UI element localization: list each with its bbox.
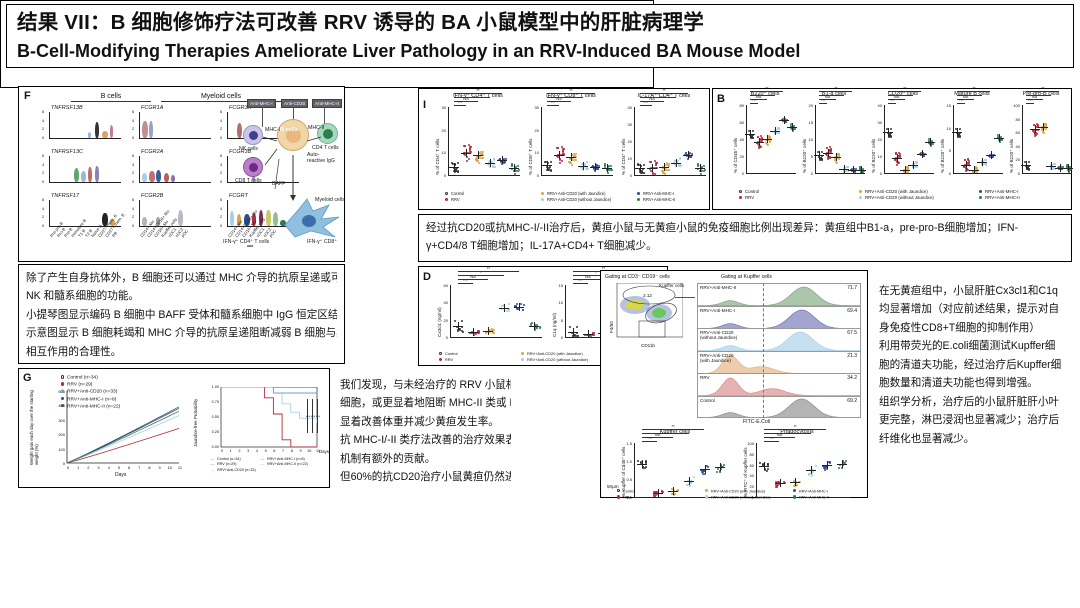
panel-b-chart-4-error-bar — [1051, 162, 1052, 170]
panel-b-chart-1-data-point — [820, 157, 822, 159]
panel-i-chart-1-data-point — [610, 169, 612, 171]
legend-dot — [617, 495, 620, 498]
panel-b-chart-1-sig-mark: ** — [828, 86, 844, 91]
panel-i-chart-2-data-point — [654, 160, 656, 162]
panel-i-legend-item: Control — [443, 191, 464, 196]
panel-b-legend-label: RRV+Anti-CD20 (with Jaundice) — [865, 189, 928, 194]
panel-b-chart-1-data-point — [838, 158, 840, 160]
legend-dot — [793, 495, 796, 498]
gating-cd3-title: Gating at CD3⁻ CD19⁻ cells — [605, 274, 670, 280]
panel-i-chart-2-data-point — [641, 172, 643, 174]
text-f-line-1: 除了产生自身抗体外，B 细胞还可以通过 MHC 介导的抗原呈递或可溶性介质来改变… — [26, 270, 337, 287]
panel-i-legend-label: RRV+Anti-CD20 (without Jaundice) — [547, 197, 611, 202]
panel-g-label: G — [23, 372, 32, 384]
panel-i-legend-item: RRV+Anti-CD20 (with Jaundice) — [539, 191, 606, 196]
panel-d-legend-swatch — [437, 357, 444, 362]
growth-y-tick: 200 — [51, 432, 65, 437]
panel-i-legend-swatch — [635, 197, 642, 202]
panel-d-chart-0-y-tick: 60 — [439, 283, 448, 288]
panel-d-chart-0-error-bar — [534, 322, 535, 330]
histogram-row-value: 21.3 — [847, 353, 857, 359]
histogram-row: RRV+Anti-CD20 (without Jaundice)67.5 — [697, 328, 861, 351]
violin-category-label: PB — [111, 231, 118, 238]
panel-i-chart-1-error-bar — [583, 162, 584, 170]
flow-legend-swatch — [791, 495, 798, 499]
panel-d-chart-0-error-bar — [504, 304, 505, 312]
violin-y-tick: 2 — [42, 214, 44, 219]
panel-d-chart-0-data-point — [522, 309, 524, 311]
legend-dot — [521, 352, 524, 355]
panel-d-legend-swatch — [437, 351, 444, 356]
flow-legend-item: RRV+Anti-CD20 (with Jaundice) — [703, 489, 765, 493]
violin-y-tick: 0 — [220, 223, 222, 228]
violin-y-tick: 2 — [132, 126, 134, 131]
flow-chart-1-data-point — [838, 467, 840, 469]
violin-shape — [164, 173, 169, 182]
survival-legend-swatch: — — [209, 457, 216, 461]
survival-x-tick: 2 — [236, 449, 242, 453]
panel-b-chart-0-data-point — [794, 128, 796, 130]
growth-x-tick: 10 — [167, 465, 173, 470]
violin-y-axis — [139, 112, 140, 138]
violin-y-tick: 4 — [42, 206, 44, 211]
panel-b-chart-0-data-point — [769, 140, 771, 142]
flow-chart-1-sig-bar — [764, 437, 795, 438]
flow-chart-1-data-point — [766, 470, 768, 472]
flow-chart-0-y-tick: 1.0 — [623, 459, 632, 464]
panel-d-chart-1-sig-bar — [573, 283, 588, 284]
panel-d-chart-0-y-axis — [450, 285, 451, 337]
panel-i-chart-0-data-point — [493, 158, 495, 160]
survival-legend-item: —RRV (n=29) — [209, 462, 237, 466]
flow-legend-swatch — [703, 495, 710, 499]
panel-b-legend-swatch — [857, 189, 864, 194]
panel-d-chart-1-y-axis — [565, 285, 566, 337]
panel-i-chart-1-error-bar — [571, 153, 572, 161]
flow-legend-label: RRV+Anti-MHC-II — [799, 496, 829, 500]
panel-b-chart-3-data-point — [958, 133, 960, 135]
violin-y-tick: 4 — [42, 162, 44, 167]
panel-b-chart-4-data-point — [1053, 163, 1055, 165]
panel-b-chart-2-error-bar — [888, 128, 889, 136]
panel-i-chart-0-y-axis — [448, 107, 449, 175]
histogram-row: RRV+Anti-MHC-I69.4 — [697, 306, 861, 329]
panel-b-chart-3-y-tick: 0 — [942, 171, 951, 176]
panel-f-label: F — [24, 90, 31, 102]
text-right-line-4: 利用带荧光的E.coli细菌测试Kupffer细 — [879, 338, 1065, 355]
histogram-row-label: RRV+Anti-CD20 (without Jaundice) — [700, 330, 737, 341]
panel-b-chart-4-y-tick: 40 — [1011, 144, 1020, 149]
violin-y-tick: 4 — [42, 118, 44, 123]
panel-b-legend-label: Control — [745, 189, 759, 194]
panel-d-chart-1-data-point — [576, 326, 578, 328]
panel-b-chart-4-y-tick: 60 — [1011, 130, 1020, 135]
violin-y-tick: 2 — [132, 214, 134, 219]
panel-b-chart-4-y-tick: 80 — [1011, 117, 1020, 122]
panel-i-legend-swatch — [443, 197, 450, 202]
growth-y-tick: 400 — [51, 403, 65, 408]
growth-x-tick: 5 — [116, 465, 122, 470]
growth-x-tick: 11 — [177, 465, 183, 470]
panel-b-chart-0-sig-bar — [750, 95, 775, 96]
violin-y-tick: 4 — [132, 206, 134, 211]
panel-i-chart-1-data-point — [548, 169, 550, 171]
panel-d-chart-0-data-point — [461, 320, 463, 322]
text-g-line-3: 显着改善体重并减少黄疸发生率。 — [340, 414, 511, 431]
panel-b-legend-swatch — [977, 195, 984, 200]
survival-x-tick: 8 — [289, 449, 295, 453]
panel-i-chart-1-error-bar — [547, 161, 548, 169]
panel-b-chart-2-data-point — [889, 133, 891, 135]
histogram-row-label: RRV — [700, 375, 710, 380]
panel-i-chart-2-data-point — [643, 164, 645, 166]
violin-shape — [171, 175, 175, 182]
survival-legend-label: RRV (n=29) — [217, 462, 237, 466]
panel-g-figure: G Control (n=34)RRV (n=29)RRV+Anti-CD20 … — [18, 368, 330, 488]
panel-f-figure: F B cells Myeloid cells TNFRSF13B6420TNF… — [18, 86, 345, 262]
legend-dot — [739, 196, 742, 199]
panel-d-chart-0-error-bar — [488, 327, 489, 335]
panel-b-chart-4-sig-bar — [1026, 95, 1051, 96]
panel-d-chart-0-data-point — [508, 303, 510, 305]
survival-x-tick: 9 — [298, 449, 304, 453]
panel-f-description: 除了产生自身抗体外，B 细胞还可以通过 MHC 介导的抗原呈递或可溶性介质来改变… — [18, 264, 345, 364]
panel-b-chart-1-error-bar — [819, 151, 820, 159]
histogram-row-value: 69.2 — [847, 398, 857, 404]
panel-b-chart-1-sig-bar — [819, 103, 827, 104]
text-ib-line-1: 经过抗CD20或抗MHC-I/-II治疗后，黄疸小鼠与无黄疸小鼠的免疫细胞比例出… — [426, 220, 1064, 237]
survival-legend-item: —RRV+Anti-MHC-I (n=8) — [259, 457, 305, 461]
flow-chart-0-error-bar — [720, 463, 721, 471]
panel-b-chart-1-y-tick: 20 — [804, 103, 813, 108]
panel-b-chart-2-error-bar — [922, 150, 923, 158]
panel-i-legend-item: RRV+Anti-MHC-II — [635, 197, 675, 202]
panel-b-chart-3-sig-bar — [957, 103, 965, 104]
panel-i-chart-2-y-tick: 30 — [623, 122, 632, 127]
panel-b-chart-2-sig-mark: ** — [897, 86, 913, 91]
panel-d-legend-item: Control — [437, 351, 458, 356]
survival-curve-svg — [207, 387, 321, 467]
flow-chart-1-error-bar — [827, 461, 828, 469]
flow-chart-0-error-bar — [658, 489, 659, 497]
panel-i-legend-swatch — [443, 191, 450, 196]
violin-y-tick: 6 — [132, 153, 134, 158]
text-f-line-3: 小提琴图显示编码 B 细胞中 BAFF 受体和髓系细胞中 IgG 恒定区结合受体… — [26, 307, 337, 324]
panel-b-legend-label: RRV+Anti-CD20 (without Jaundice) — [865, 195, 934, 200]
flow-chart-1-error-bar — [764, 462, 765, 470]
legend-dot — [859, 196, 862, 199]
panel-b-chart-1-y-tick: 10 — [804, 137, 813, 142]
panel-b-chart-4: Pre-pro-B cells% of B220⁺ cells100806040… — [1007, 91, 1075, 183]
legend-dot — [979, 190, 982, 193]
flow-chart-1-data-point — [815, 465, 817, 467]
panel-d-chart-0-data-point — [520, 303, 522, 305]
panel-b-legend-item: RRV+Anti-MHC-I — [977, 189, 1018, 194]
panel-i-chart-2-y-tick: 40 — [623, 105, 632, 110]
panel-i-chart-2-error-bar — [652, 164, 653, 172]
flow-chart-1-data-point — [775, 486, 777, 488]
survival-x-tick: 6 — [271, 449, 277, 453]
panel-g-legend-label: RRV (n=29) — [67, 383, 92, 388]
panel-b-chart-4-error-bar — [1068, 164, 1069, 172]
panel-i-figure: I IFN-γ⁺ CD4⁺ T cells% of CD4⁺ T cells30… — [418, 88, 710, 210]
panel-b-legend-label: RRV — [745, 195, 754, 200]
legend-dot — [979, 196, 982, 199]
text-f-line-4: 示意图显示 B 细胞耗竭和 MHC 介导的抗原呈递阻断减弱 B 细胞与其他细胞簇… — [26, 325, 337, 342]
panel-b-chart-3-x-axis — [953, 173, 1003, 174]
violin-x-axis — [139, 138, 211, 139]
violin-y-axis — [49, 156, 50, 182]
gene-label-tnfrsf17: TNFRSF17 — [51, 193, 79, 199]
panel-b-chart-2-y-tick: 10 — [873, 154, 882, 159]
survival-y-tick: 0.75 — [199, 400, 219, 404]
panel-i-chart-1-sig-bar — [547, 101, 571, 102]
flow-legend-label: RRV+Anti-MHC-I — [799, 489, 828, 493]
flow-chart-0-sig-mark: ** — [665, 424, 681, 429]
gene-label-fcgr2a: FCGR2A — [141, 149, 163, 155]
flow-chart-0-data-point — [707, 466, 709, 468]
panel-b-chart-2-sig-bar — [888, 95, 913, 96]
panel-b-chart-0-error-bar — [784, 116, 785, 124]
survival-y-axis-label: Jaundice-free Probability — [193, 399, 198, 447]
violin-y-tick: 0 — [42, 135, 44, 140]
panel-i-chart-2-sig-bar — [640, 93, 688, 94]
violin-y-axis — [227, 156, 228, 182]
histogram-row: RRV34.2 — [697, 373, 861, 396]
panel-b-legend-swatch — [857, 195, 864, 200]
flow-chart-1-data-point — [829, 461, 831, 463]
panel-b-chart-2-y-tick: 30 — [873, 120, 882, 125]
flow-chart-0-data-point — [716, 471, 718, 473]
flow-chart-0-data-point — [702, 473, 704, 475]
violin-y-tick: 0 — [132, 179, 134, 184]
panel-i-chart-2-data-point — [668, 169, 670, 171]
panel-i-chart-2-error-bar — [700, 164, 701, 172]
panel-i-chart-0-data-point — [468, 158, 470, 160]
panel-ib-description: 经过抗CD20或抗MHC-I/-II治疗后，黄疸小鼠与无黄疸小鼠的免疫细胞比例出… — [418, 214, 1072, 262]
growth-curve-svg — [53, 391, 183, 485]
panel-d-chart-1-y-tick: 0 — [554, 335, 563, 340]
growth-y-tick: 500 — [51, 389, 65, 394]
panel-b-chart-3-data-point — [967, 158, 969, 160]
survival-legend-label: RRV+Anti-MHC-I (n=8) — [267, 457, 305, 461]
panel-b-chart-1-x-axis — [815, 173, 865, 174]
panel-i-chart-0-data-point — [514, 173, 516, 175]
violin-y-tick: 4 — [132, 118, 134, 123]
survival-series-2 — [221, 387, 317, 423]
flow-legend-item: RRV+Anti-CD20 (without Jaundice) — [703, 495, 771, 499]
panel-i-chart-2-error-bar — [676, 159, 677, 167]
survival-series-1 — [221, 387, 317, 447]
panel-i-chart-2-x-axis — [634, 175, 706, 176]
panel-b-chart-0-sig-bar — [750, 99, 767, 100]
panel-i-legend-swatch — [539, 191, 546, 196]
panel-b-chart-0-sig-bar — [750, 91, 783, 92]
panel-i-chart-2-data-point — [650, 161, 652, 163]
slide-title-block: 结果 VII：B 细胞修饰疗法可改善 RRV 诱导的 BA 小鼠模型中的肝脏病理… — [6, 4, 1074, 68]
panel-b-chart-4-sig-bar — [1026, 103, 1034, 104]
violin-y-tick: 6 — [132, 197, 134, 202]
panel-right-description: 在无黄疸组中，小鼠肝脏Cx3cl1和C1q 均显著增加（对应前述结果，提示对自 … — [872, 278, 1072, 498]
growth-x-tick: 0 — [65, 465, 71, 470]
panel-b-chart-1-data-point — [828, 157, 830, 159]
violin-y-tick: 0 — [132, 135, 134, 140]
panel-b-chart-2-error-bar — [897, 154, 898, 162]
legend-dot — [637, 198, 640, 201]
panel-d-legend-swatch — [519, 351, 526, 356]
violin-shape — [95, 122, 99, 138]
survival-x-tick: 7 — [280, 449, 286, 453]
flow-chart-0-data-point — [704, 473, 706, 475]
panel-b-chart-0-error-bar — [767, 135, 768, 143]
panel-d-legend-label: RRV+Anti-CD20 (without Jaundice) — [527, 357, 588, 362]
panel-b-legend-item: RRV+Anti-CD20 (without Jaundice) — [857, 195, 934, 200]
growth-y-tick: 300 — [51, 418, 65, 423]
survival-x-tick: 0 — [219, 449, 225, 453]
panel-i-chart-0-y-tick: 0 — [437, 173, 446, 178]
hist-x-axis-label: FITC-E.Coli — [743, 419, 770, 425]
survival-sig-mark: *** — [315, 415, 321, 419]
panel-d-chart-1-sig-bar — [573, 279, 604, 280]
panel-d-chart-0-data-point — [475, 333, 477, 335]
text-right-line-5: 胞的清道夫功能，经过治疗后Kupffer细 — [879, 357, 1065, 374]
gating-kupffer-title: Gating at Kupffer cells — [721, 274, 772, 280]
panel-d-chart-0-data-point — [508, 310, 510, 312]
panel-i-chart-1-data-point — [607, 172, 609, 174]
panel-i-chart-2-sig-bar — [640, 101, 664, 102]
flow-chart-1-error-bar — [842, 460, 843, 468]
panel-i-chart-1-error-bar — [607, 164, 608, 172]
panel-b-chart-4-data-point — [1028, 161, 1030, 163]
panel-i-chart-2-data-point — [655, 164, 657, 166]
panel-g-legend-item: Control (n=34) — [59, 375, 98, 381]
panel-i-chart-2-y-tick: 0 — [623, 173, 632, 178]
panel-b-legend-item: RRV+Anti-MHC-II — [977, 195, 1020, 200]
panel-i-chart-0-data-point — [464, 145, 466, 147]
panel-b-chart-2-error-bar — [930, 138, 931, 146]
legend-dot — [541, 198, 544, 201]
drug-tag-anti-mhc-ii: Anti-MHC-II — [312, 99, 342, 108]
violin-y-tick: 0 — [220, 135, 222, 140]
flow-chart-1-error-bar — [795, 478, 796, 486]
panel-d-chart-0: Cx3cl1 (ng/ml)6040200***NS*** — [435, 271, 545, 347]
growth-x-tick: 4 — [106, 465, 112, 470]
panel-b-chart-3-error-bar — [982, 158, 983, 166]
panel-i-chart-2-data-point — [703, 170, 705, 172]
panel-i-legend-item: RRV+Anti-MHC-I — [635, 191, 674, 196]
histogram-row-label: RRV+Anti-MHC-I — [700, 308, 735, 313]
panel-i-chart-1-data-point — [586, 161, 588, 163]
panel-b-chart-4-sig-mark: ** — [1035, 86, 1051, 91]
panel-d-chart-1-error-bar — [573, 328, 574, 336]
panel-b-chart-0-data-point — [759, 146, 761, 148]
violin-shape — [149, 171, 154, 182]
legend-dot — [521, 358, 524, 361]
text-g-line-6: 但60%的抗CD20治疗小鼠黄疸仍然进展 — [340, 469, 511, 486]
panel-b-chart-1-data-point — [835, 161, 837, 163]
panel-i-chart-0-sig-bar — [454, 105, 466, 106]
panel-i-chart-0-sig-bar — [454, 97, 490, 98]
panel-i-chart-1-x-axis — [541, 175, 613, 176]
panel-i-chart-2-error-bar — [688, 151, 689, 159]
panel-b-chart-4-y-tick: 100 — [1011, 103, 1020, 108]
panel-b-chart-3-error-bar — [974, 166, 975, 174]
panel-d-chart-1-y-tick: 10 — [554, 300, 563, 305]
survival-legend-label: Control (n=34) — [217, 457, 241, 461]
violin-shape — [95, 166, 99, 182]
text-right-line-9: 纤维化也显著减少。 — [879, 431, 1065, 448]
panel-i-chart-2: IL-17A⁺ CD4⁺ T cells% of CD4⁺ T cells403… — [619, 93, 709, 185]
text-right-line-8: 更完整，淋巴浸润也显著减少；治疗后 — [879, 412, 1065, 429]
panel-d-chart-1-error-bar — [588, 330, 589, 338]
violin-y-tick: 2 — [220, 126, 222, 131]
histogram-curve — [698, 396, 860, 418]
legend-dot — [445, 198, 448, 201]
panel-g-legend-swatch — [59, 382, 66, 388]
violin-shape — [88, 167, 92, 182]
panel-b-chart-1-y-tick: 0 — [804, 171, 813, 176]
text-right-line-3: 身免疫性CD8+T细胞的抑制作用） — [879, 320, 1065, 337]
panel-b-chart-2-y-tick: 40 — [873, 103, 882, 108]
panel-i-chart-0-sig-bar — [454, 93, 502, 94]
panel-b-chart-0-sig-mark: ** — [759, 86, 775, 91]
panel-b-chart-0-sig-bar — [750, 103, 758, 104]
survival-legend-item: —RRV+Anti-MHC-II (n=22) — [259, 462, 308, 466]
panel-i-legend-item: RRV — [443, 197, 460, 202]
flow-chart-0-error-bar — [705, 465, 706, 473]
panel-b-chart-0-error-bar — [759, 138, 760, 146]
panel-d-chart-0-sig-bar — [458, 283, 473, 284]
flow-chart-1-error-bar — [780, 479, 781, 487]
histogram-gate-line — [763, 283, 764, 418]
growth-x-tick: 6 — [126, 465, 132, 470]
panel-d-legend-swatch — [519, 357, 526, 362]
panel-i-chart-1-data-point — [562, 148, 564, 150]
panel-b-chart-1-sig-bar — [819, 99, 836, 100]
flow-chart-0-y-tick: 0.5 — [623, 477, 632, 482]
panel-i-chart-1-data-point — [550, 170, 552, 172]
panel-b-chart-2-data-point — [898, 152, 900, 154]
survival-series-4 — [221, 387, 317, 393]
panel-d-chart-0-data-point — [535, 327, 537, 329]
panel-d-chart-0-sig-mark: ** — [480, 266, 496, 271]
violin-y-tick: 4 — [220, 162, 222, 167]
panel-i-chart-0-data-point — [457, 171, 459, 173]
panel-i-legend-label: RRV+Anti-MHC-II — [643, 197, 675, 202]
panel-b-chart-4-data-point — [1070, 168, 1072, 170]
panel-g-legend-item: RRV (n=29) — [59, 382, 92, 388]
panel-d-chart-0-error-bar — [519, 303, 520, 311]
survival-legend-swatch: — — [259, 457, 266, 461]
panel-i-chart-1-data-point — [610, 165, 612, 167]
panel-b-chart-3-y-tick: 5 — [942, 148, 951, 153]
violin-y-tick: 6 — [220, 109, 222, 114]
violin-y-axis — [227, 200, 228, 226]
panel-i-legend-label: RRV+Anti-CD20 (with Jaundice) — [547, 191, 606, 196]
panel-b-chart-0-data-point — [766, 143, 768, 145]
flow-chart-1-y-tick: 40 — [745, 473, 754, 478]
panel-b-chart-2-x-axis — [884, 173, 934, 174]
panel-b-chart-2-data-point — [915, 161, 917, 163]
growth-x-tick: 3 — [96, 465, 102, 470]
panel-i-chart-1-y-label: % of CD8⁺ T cells — [528, 139, 534, 175]
flow-legend-item: RRV+Anti-MHC-I — [791, 489, 828, 493]
panel-d-chart-0-data-point — [462, 331, 464, 333]
panel-b-figure: B B220⁺ cells% of CD45⁺ cells806040200**… — [712, 88, 1072, 210]
violin-shape — [142, 173, 147, 182]
flow-chart-0-error-bar — [642, 460, 643, 468]
flow-chart-0-sig-bar — [642, 433, 689, 434]
